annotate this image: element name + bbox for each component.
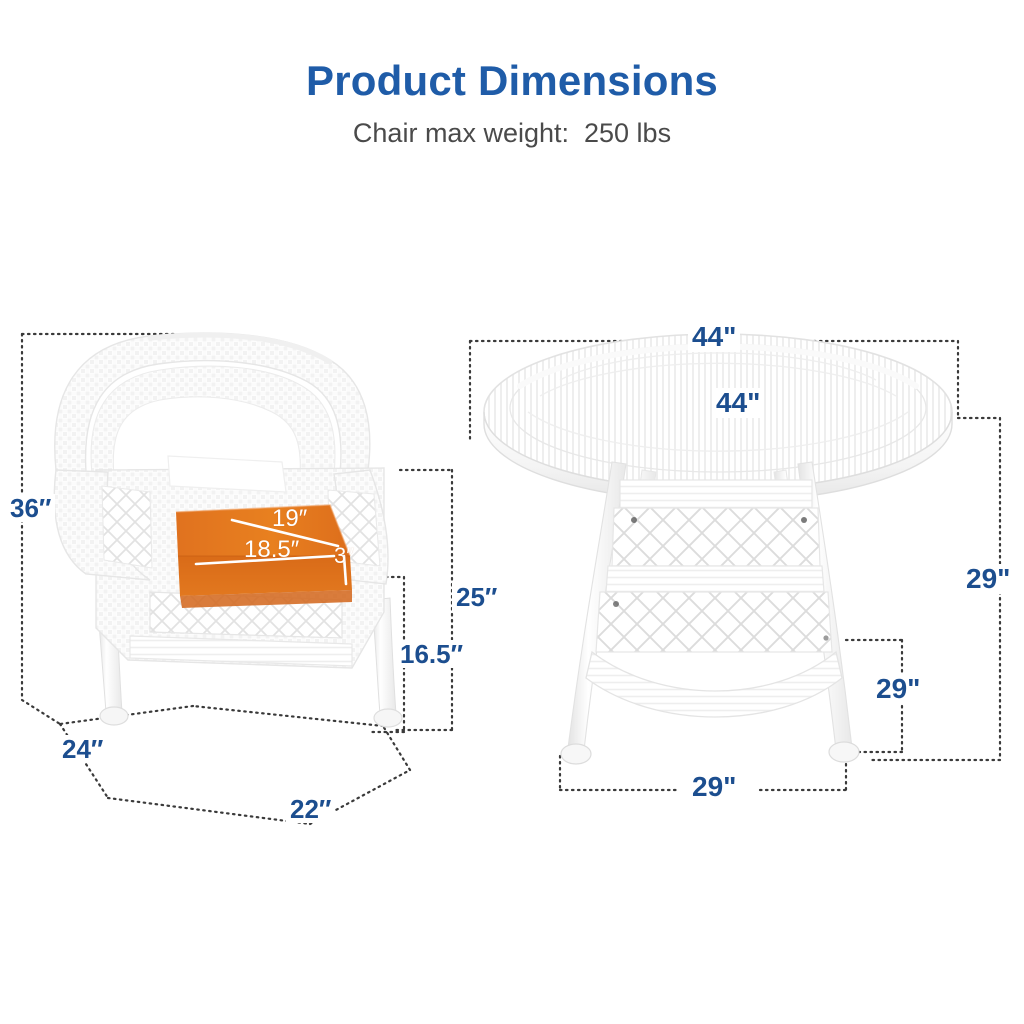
cushion-depth-label: 19″ — [272, 507, 307, 531]
chair-depth-label: 24″ — [58, 735, 107, 763]
table-top-depth-label: 44" — [712, 388, 764, 418]
table-base-depth-label: 29" — [872, 674, 924, 704]
table-base-width-label: 29" — [688, 772, 740, 802]
chair-illustration — [54, 333, 402, 727]
cushion-thickness-label: 3″ — [334, 545, 354, 567]
cushion-width-label: 18.5″ — [244, 538, 299, 562]
product-dimensions-diagram: Product Dimensions Chair max weight: 250… — [0, 0, 1024, 1024]
table-top-width-label: 44" — [688, 322, 740, 352]
chair-arm-height-label: 25″ — [452, 583, 501, 611]
chair-width-label: 22″ — [286, 795, 335, 823]
chair-seat-height-label: 16.5″ — [396, 640, 467, 668]
chair-height-label: 36″ — [6, 494, 55, 522]
diagram-artwork — [0, 0, 1024, 1024]
table-height-label: 29" — [962, 564, 1014, 594]
